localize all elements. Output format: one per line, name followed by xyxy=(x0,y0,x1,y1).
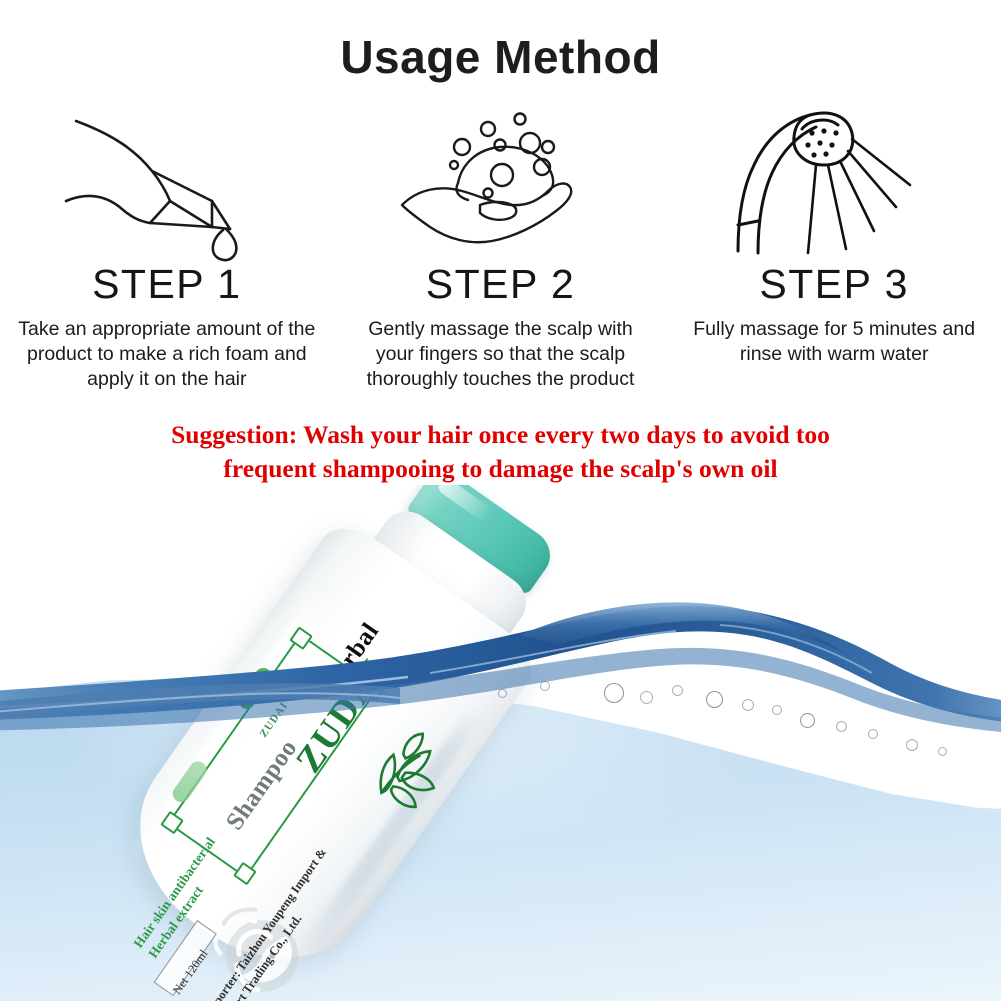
step-2: STEP 2 Gently massage the scalp with you… xyxy=(334,100,668,392)
step-1-label: STEP 1 xyxy=(92,264,242,305)
shampoo-bottle: ZUDAI xyxy=(152,491,582,1001)
bottle-pour-drop-icon xyxy=(0,100,334,260)
step-2-label: STEP 2 xyxy=(426,264,576,305)
product-photo: ZUDAI xyxy=(0,485,1001,1001)
water-stream-left xyxy=(0,670,400,740)
steps-row: STEP 1 Take an appropriate amount of the… xyxy=(0,100,1001,400)
step-3-label: STEP 3 xyxy=(759,264,909,305)
suggestion-line-2: frequent shampooing to damage the scalp'… xyxy=(0,452,1001,486)
step-3: STEP 3 Fully massage for 5 minutes and r… xyxy=(667,100,1001,367)
page-title: Usage Method xyxy=(0,30,1001,84)
hand-with-foam-bubbles-icon xyxy=(334,100,668,260)
product-usage-infographic: Usage Method STEP 1 Take an xyxy=(0,0,1001,1001)
suggestion-text: Suggestion: Wash your hair once every tw… xyxy=(0,418,1001,486)
step-1: STEP 1 Take an appropriate amount of the… xyxy=(0,100,334,392)
step-1-description: Take an appropriate amount of the produc… xyxy=(17,317,317,392)
step-2-description: Gently massage the scalp with your finge… xyxy=(351,317,651,392)
showerhead-spray-icon xyxy=(667,100,1001,260)
cap-highlight xyxy=(436,485,494,523)
suggestion-line-1: Suggestion: Wash your hair once every tw… xyxy=(0,418,1001,452)
step-3-description: Fully massage for 5 minutes and rinse wi… xyxy=(684,317,984,367)
